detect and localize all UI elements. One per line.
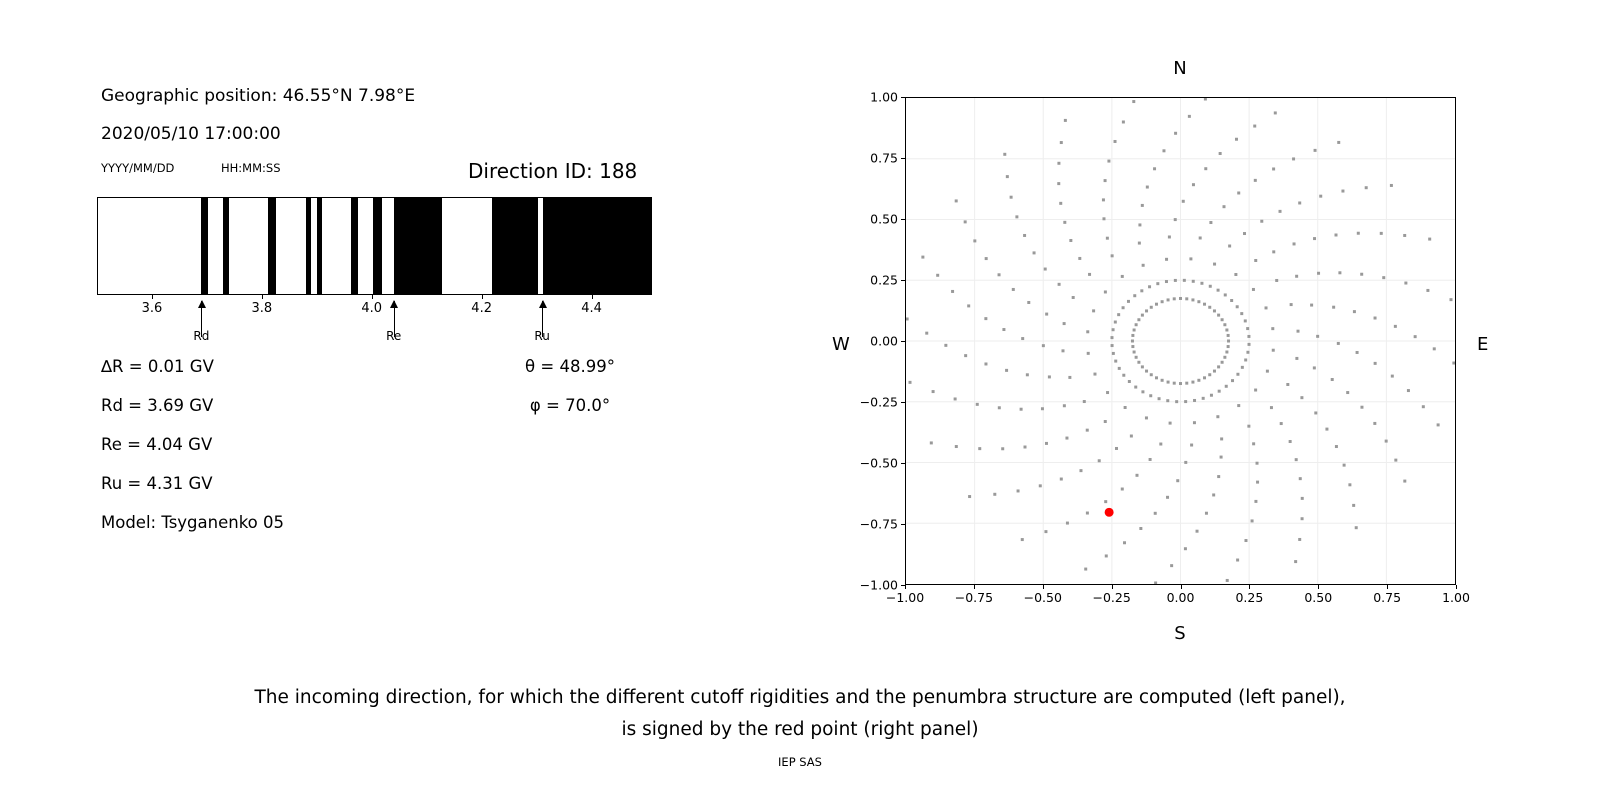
penumbra-marker-label-rd: Rd: [193, 329, 209, 343]
polar-x-tick-label: −1.00: [886, 590, 924, 605]
polar-y-tick-label: −0.25: [860, 395, 898, 410]
figure-caption: The incoming direction, for which the di…: [0, 682, 1600, 746]
polar-x-tick-label: 1.00: [1442, 590, 1470, 605]
polar-y-tick-mark: [901, 219, 905, 220]
polar-y-tick-mark: [901, 280, 905, 281]
footer-credit: IEP SAS: [0, 755, 1600, 769]
polar-y-tick-label: 1.00: [870, 90, 898, 105]
polar-x-tick-mark: [905, 585, 906, 589]
penumbra-forbidden-band: [317, 198, 322, 294]
rd-value: Rd = 3.69 GV: [101, 396, 213, 415]
caption-line-2: is signed by the red point (right panel): [0, 714, 1600, 746]
penumbra-tick-label: 4.0: [361, 301, 382, 316]
penumbra-forbidden-band: [268, 198, 276, 294]
re-value: Re = 4.04 GV: [101, 435, 212, 454]
polar-y-tick-mark: [901, 402, 905, 403]
penumbra-tick-label: 4.4: [581, 301, 602, 316]
polar-y-tick-mark: [901, 463, 905, 464]
penumbra-tick-mark: [262, 295, 263, 299]
datetime-label: 2020/05/10 17:00:00: [101, 124, 281, 144]
polar-x-tick-mark: [1249, 585, 1250, 589]
polar-x-tick-mark: [1318, 585, 1319, 589]
penumbra-forbidden-band: [492, 198, 538, 294]
penumbra-forbidden-band: [306, 198, 311, 294]
polar-x-tick-mark: [1387, 585, 1388, 589]
direction-map-plot: [905, 97, 1456, 585]
penumbra-tick-mark: [152, 295, 153, 299]
delta-r-value: ∆R = 0.01 GV: [101, 357, 214, 376]
time-format-hint: HH:MM:SS: [221, 161, 281, 175]
theta-value: θ = 48.99°: [525, 357, 615, 376]
penumbra-forbidden-band: [223, 198, 229, 294]
penumbra-tick-label: 4.2: [471, 301, 492, 316]
polar-x-tick-label: −0.75: [955, 590, 993, 605]
compass-south-label: S: [1174, 623, 1185, 644]
selected-direction-point: [1105, 508, 1114, 517]
polar-x-tick-label: 0.75: [1373, 590, 1401, 605]
direction-id-label: Direction ID: 188: [468, 159, 637, 183]
polar-x-tick-label: 0.00: [1167, 590, 1195, 605]
penumbra-forbidden-band: [201, 198, 208, 294]
geographic-position-label: Geographic position: 46.55°N 7.98°E: [101, 86, 415, 106]
grid-lines: [906, 98, 1455, 584]
polar-y-tick-label: −0.75: [860, 517, 898, 532]
polar-x-tick-mark: [1043, 585, 1044, 589]
penumbra-tick-mark: [372, 295, 373, 299]
polar-x-tick-mark: [974, 585, 975, 589]
direction-map-panel: N S W E −1.00−0.75−0.50−0.250.000.250.50…: [760, 0, 1600, 660]
penumbra-forbidden-band: [351, 198, 358, 294]
compass-north-label: N: [1173, 58, 1186, 79]
polar-x-tick-label: 0.50: [1304, 590, 1332, 605]
compass-west-label: W: [832, 334, 850, 355]
penumbra-panel: Geographic position: 46.55°N 7.98°E 2020…: [0, 0, 760, 660]
polar-x-tick-label: −0.25: [1092, 590, 1130, 605]
penumbra-x-axis: 3.63.84.04.24.4: [97, 295, 652, 355]
penumbra-forbidden-band: [543, 198, 652, 294]
polar-y-tick-mark: [901, 524, 905, 525]
polar-y-tick-mark: [901, 341, 905, 342]
penumbra-marker-label-re: Re: [386, 329, 401, 343]
penumbra-forbidden-band: [373, 198, 382, 294]
polar-x-tick-mark: [1456, 585, 1457, 589]
penumbra-tick-mark: [592, 295, 593, 299]
polar-y-tick-mark: [901, 97, 905, 98]
caption-line-1: The incoming direction, for which the di…: [0, 682, 1600, 714]
phi-value: φ = 70.0°: [530, 396, 610, 415]
penumbra-tick-label: 3.8: [252, 301, 273, 316]
polar-y-tick-label: 0.00: [870, 334, 898, 349]
penumbra-tick-label: 3.6: [142, 301, 163, 316]
direction-map-svg: [906, 98, 1455, 584]
polar-y-tick-label: −0.50: [860, 456, 898, 471]
polar-y-tick-mark: [901, 158, 905, 159]
penumbra-forbidden-band: [394, 198, 442, 294]
compass-east-label: E: [1477, 334, 1488, 355]
date-format-hint: YYYY/MM/DD: [101, 161, 174, 175]
polar-y-tick-label: 0.50: [870, 212, 898, 227]
ru-value: Ru = 4.31 GV: [101, 474, 213, 493]
polar-x-tick-label: 0.25: [1235, 590, 1263, 605]
penumbra-marker-label-ru: Ru: [534, 329, 549, 343]
polar-x-tick-label: −0.50: [1024, 590, 1062, 605]
polar-x-tick-mark: [1112, 585, 1113, 589]
penumbra-tick-mark: [482, 295, 483, 299]
polar-y-tick-label: 0.25: [870, 273, 898, 288]
polar-y-tick-label: 0.75: [870, 151, 898, 166]
polar-x-tick-mark: [1181, 585, 1182, 589]
penumbra-plot: [97, 197, 652, 295]
model-value: Model: Tsyganenko 05: [101, 513, 284, 532]
